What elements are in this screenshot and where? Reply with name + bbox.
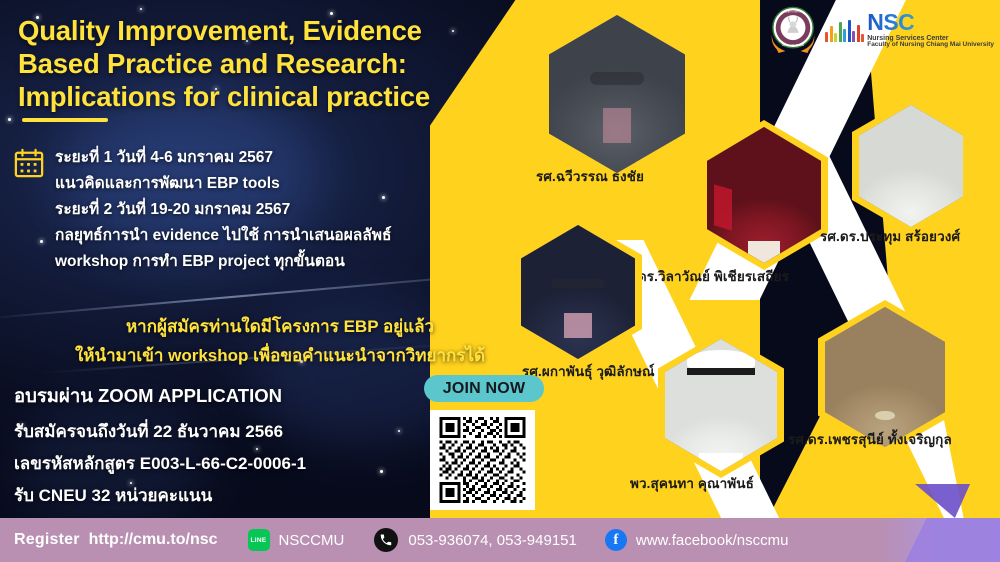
phone-numbers: 053-936074, 053-949151 <box>408 532 577 549</box>
footer-bar: Register http://cmu.to/nsc LINE NSCCMU 0… <box>0 518 1000 562</box>
nsc-people-icon <box>825 18 864 42</box>
title-line-3: Implications for clinical practice <box>18 80 518 113</box>
title-underline <box>22 118 108 122</box>
logo-group: คณะพยาบาลศาสตร์ มหาวิทยาลัยเชียงใหม่ NSC… <box>769 4 994 56</box>
line-id: NSCCMU <box>279 532 345 549</box>
phone-icon <box>374 528 398 552</box>
nsc-title: NSC <box>867 11 994 34</box>
schedule-block: ระยะที่ 1 วันที่ 4-6 มกราคม 2567 แนวคิดแ… <box>55 145 515 275</box>
nsc-subtitle-2: Faculty of Nursing Chiang Mai University <box>867 42 994 49</box>
line-icon[interactable]: LINE <box>248 529 270 551</box>
title-line-2: Based Practice and Research: <box>18 47 518 80</box>
schedule-line-3: ระยะที่ 2 วันที่ 19-20 มกราคม 2567 <box>55 197 515 223</box>
schedule-line-4: กลยุทธ์การนำ evidence ไปใช้ การนำเสนอผลล… <box>55 223 515 249</box>
highlight-note: หากผู้สมัครท่านใดมีโครงการ EBP อยู่แล้ว … <box>10 312 550 370</box>
register-label: Register <box>14 531 80 549</box>
zoom-platform-line: อบรมผ่าน ZOOM APPLICATION <box>14 382 282 411</box>
nsc-logo: NSC Nursing Services Center Faculty of N… <box>825 11 994 49</box>
speaker-name-3: รศ.ดร.ประทุม สร้อยวงศ์ <box>820 225 960 247</box>
registration-details: รับสมัครจนถึงวันที่ 22 ธันวาคม 2566 เลขร… <box>14 416 434 512</box>
star <box>8 118 11 121</box>
join-now-button[interactable]: JOIN NOW <box>424 375 544 402</box>
facebook-url[interactable]: www.facebook/nsccmu <box>636 532 789 549</box>
star <box>140 8 142 10</box>
calendar-icon <box>14 148 44 178</box>
speaker-name-5: พว.สุคนทา คุณาพันธ์ <box>630 472 754 494</box>
star <box>40 240 43 243</box>
facebook-mark: f <box>613 532 618 549</box>
svg-text:มหาวิทยาลัยเชียงใหม่: มหาวิทยาลัยเชียงใหม่ <box>782 43 805 47</box>
cneu-credits: รับ CNEU 32 หน่วยคะแนน <box>14 480 434 512</box>
highlight-line-2: ให้นำมาเข้า workshop เพื่อขอคำแนะนำจากวิ… <box>10 341 550 370</box>
qr-code[interactable] <box>430 410 535 510</box>
facebook-icon[interactable]: f <box>605 529 627 551</box>
schedule-line-2: แนวคิดและการพัฒนา EBP tools <box>55 171 515 197</box>
highlight-line-1: หากผู้สมัครท่านใดมีโครงการ EBP อยู่แล้ว <box>10 312 550 341</box>
poster-canvas: รศ.ฉวีวรรณ ธงชัย รศ.ดร.วิลาวัณย์ พิเชียร… <box>0 0 1000 562</box>
page-title: Quality Improvement, Evidence Based Prac… <box>18 14 518 113</box>
schedule-line-1: ระยะที่ 1 วันที่ 4-6 มกราคม 2567 <box>55 145 515 171</box>
speaker-name-6: รศ.ดร.เพชรสุนีย์ ทั้งเจริญกุล <box>788 428 952 450</box>
schedule-line-5: workshop การทำ EBP project ทุกขั้นตอน <box>55 249 515 275</box>
course-code: เลขรหัสหลักสูตร E003-L-66-C2-0006-1 <box>14 448 434 480</box>
speaker-name-2: รศ.ดร.วิลาวัณย์ พิเชียรเสถียร <box>618 265 789 287</box>
speaker-name-1: รศ.ฉวีวรรณ ธงชัย <box>536 165 644 187</box>
qr-code-image <box>437 417 528 503</box>
registration-deadline: รับสมัครจนถึงวันที่ 22 ธันวาคม 2566 <box>14 416 434 448</box>
speakers-panel: รศ.ฉวีวรรณ ธงชัย รศ.ดร.วิลาวัณย์ พิเชียร… <box>470 0 1000 520</box>
line-icon-label: LINE <box>251 537 267 544</box>
title-line-1: Quality Improvement, Evidence <box>18 14 518 47</box>
cmu-nursing-seal-icon: คณะพยาบาลศาสตร์ มหาวิทยาลัยเชียงใหม่ <box>769 5 817 55</box>
register-url[interactable]: http://cmu.to/nsc <box>89 531 218 549</box>
svg-text:คณะพยาบาลศาสตร์: คณะพยาบาลศาสตร์ <box>783 10 804 14</box>
